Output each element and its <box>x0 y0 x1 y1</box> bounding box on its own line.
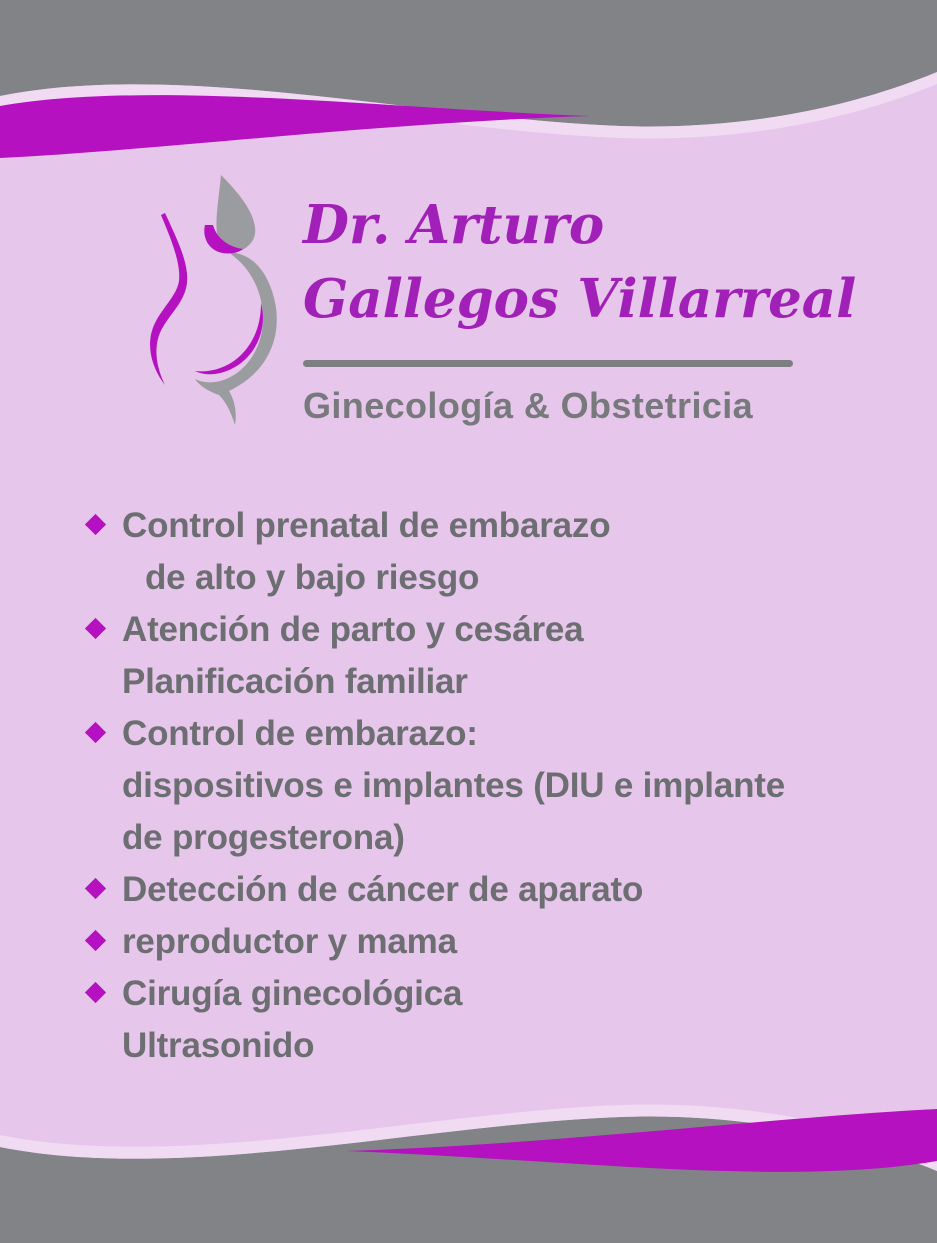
diamond-bullet-icon <box>85 878 106 899</box>
pregnant-woman-silhouette-logo <box>143 163 313 428</box>
service-row: Cirugía ginecológica <box>84 968 914 1020</box>
service-row: dispositivos e implantes (DIU e implante <box>84 760 914 812</box>
service-text: Atención de parto y cesárea <box>122 604 583 656</box>
service-text: de progesterona) <box>122 812 405 864</box>
service-row: reproductor y mama <box>84 916 914 968</box>
service-text: Cirugía ginecológica <box>122 968 462 1020</box>
logo-gray-stroke <box>195 175 277 425</box>
service-text: Planificación familiar <box>122 656 468 708</box>
diamond-bullet-icon <box>85 514 106 535</box>
diamond-bullet-icon <box>85 982 106 1003</box>
diamond-bullet-icon <box>85 618 106 639</box>
practitioner-name-line-1: Dr. Arturo <box>303 188 803 262</box>
service-row: Atención de parto y cesárea <box>84 604 914 656</box>
service-row: Control de embarazo: <box>84 708 914 760</box>
service-text: de alto y bajo riesgo <box>145 552 479 604</box>
service-row: Detección de cáncer de aparato <box>84 864 914 916</box>
services-list: Control prenatal de embarazode alto y ba… <box>84 500 914 1072</box>
service-text: dispositivos e implantes (DIU e implante <box>122 760 785 812</box>
logo-purple-stroke <box>195 225 263 374</box>
service-text: Control de embarazo: <box>122 708 478 760</box>
service-row: Planificación familiar <box>84 656 914 708</box>
header-divider-rule <box>303 360 793 367</box>
service-text: Ultrasonido <box>122 1020 314 1072</box>
practitioner-name-block: Dr. Arturo Gallegos Villarreal <box>303 188 803 336</box>
service-row: Ultrasonido <box>84 1020 914 1072</box>
flyer-canvas: Dr. Arturo Gallegos Villarreal Ginecolog… <box>0 0 937 1243</box>
practitioner-name-line-2: Gallegos Villarreal <box>303 262 803 336</box>
service-row: Control prenatal de embarazo <box>84 500 914 552</box>
diamond-bullet-icon <box>85 930 106 951</box>
service-text: reproductor y mama <box>122 916 457 968</box>
logo-purple-outline <box>150 213 187 385</box>
specialty-label: Ginecología & Obstetricia <box>303 385 753 427</box>
service-text: Detección de cáncer de aparato <box>122 864 643 916</box>
diamond-bullet-icon <box>85 722 106 743</box>
service-text: Control prenatal de embarazo <box>122 500 610 552</box>
service-row: de progesterona) <box>84 812 914 864</box>
service-row: de alto y bajo riesgo <box>84 552 914 604</box>
